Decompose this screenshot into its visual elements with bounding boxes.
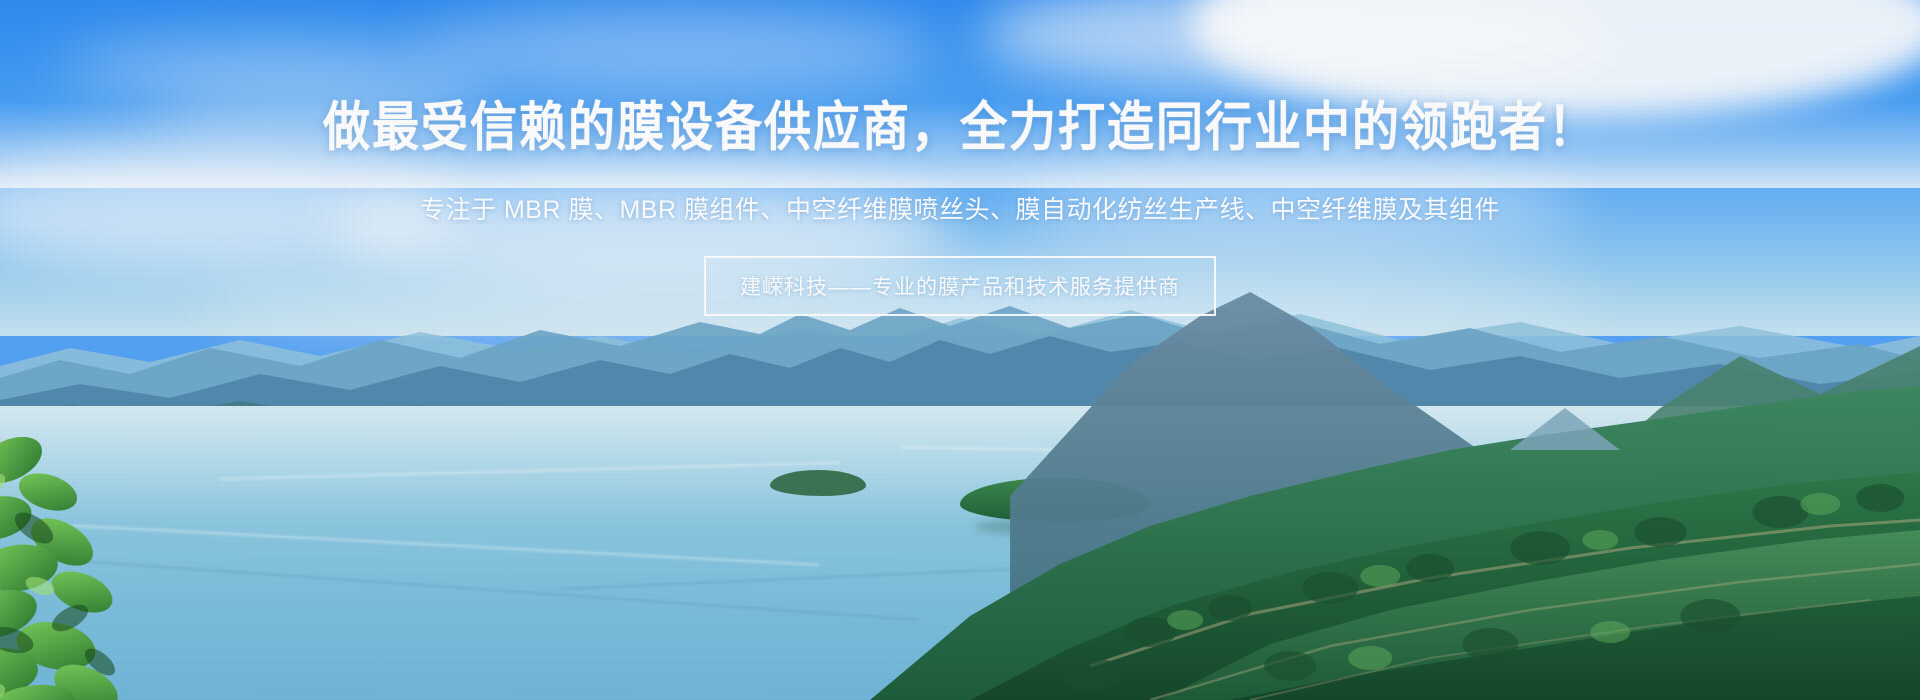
foreground-foliage [0, 400, 230, 700]
cloud-wisp-midleft [150, 95, 490, 141]
cloud-wisp-center [420, 10, 940, 90]
cloud-wisp-left [60, 40, 480, 100]
forested-hills-right [730, 196, 1920, 700]
hero-banner: 做最受信赖的膜设备供应商，全力打造同行业中的领跑者！ 专注于 MBR 膜、MBR… [0, 0, 1920, 700]
